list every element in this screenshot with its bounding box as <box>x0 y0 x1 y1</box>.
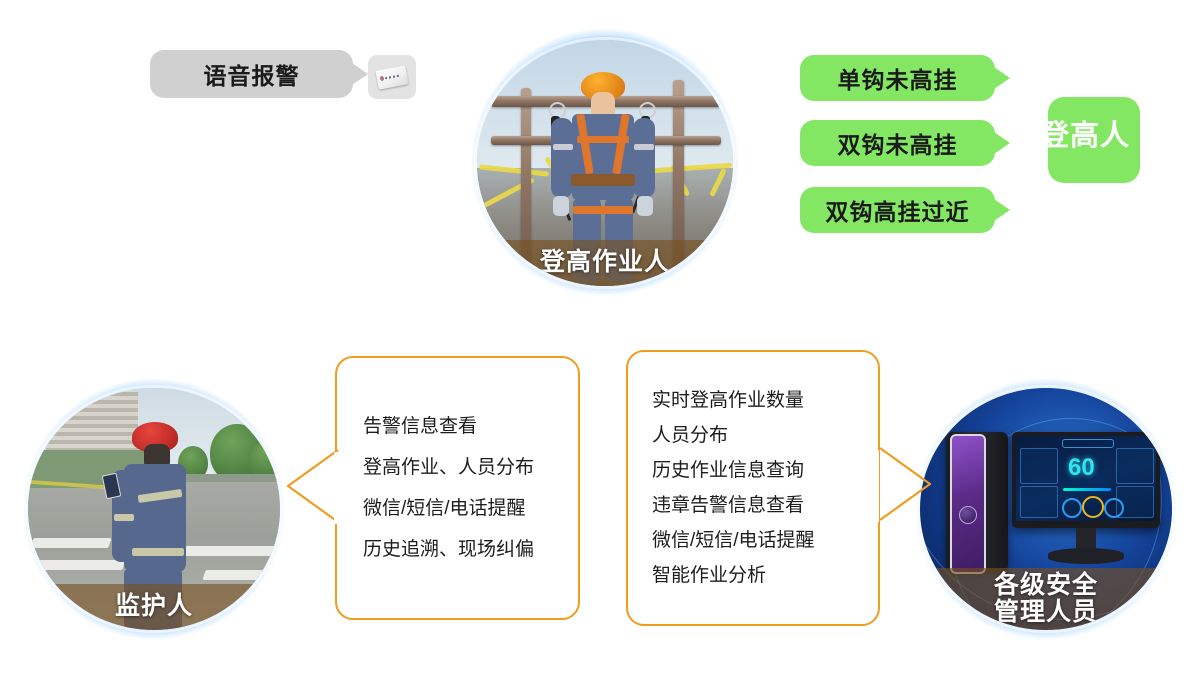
alert-bubble-single-hook: 单钩未高挂 <box>800 55 995 101</box>
callout-line: 人员分布 <box>652 426 880 445</box>
callout-line: 历史作业信息查询 <box>652 461 880 480</box>
node-guard: 监护人 <box>8 378 300 640</box>
alert-bubble-double-hook-too-close: 双钩高挂过近 <box>800 187 995 233</box>
callout-line: 微信/短信/电话提醒 <box>363 499 580 518</box>
safety-belt <box>571 174 635 186</box>
diagram-canvas: 语音报警 单钩未高挂 双钩未高挂 双钩高挂过近 登高人 <box>0 0 1200 674</box>
bubble-tail <box>994 132 1010 154</box>
caption-text: 监护人 <box>115 593 193 621</box>
node-dashboard: 60 各级安全 管理人员 <box>900 378 1192 640</box>
alert-label: 双钩高挂过近 <box>826 193 970 227</box>
callout-guard-pointer-icon <box>282 448 342 528</box>
voice-alarm-label: 语音报警 <box>204 57 300 91</box>
callout-line: 实时登高作业数量 <box>652 391 880 410</box>
screen-header-bar <box>1062 439 1114 448</box>
bubble-tail <box>352 63 368 85</box>
alert-bubble-double-hook: 双钩未高挂 <box>800 120 995 166</box>
callout-line: 微信/短信/电话提醒 <box>652 531 880 550</box>
screen-dial <box>1104 498 1124 518</box>
monitor-screen: 60 <box>1016 436 1156 521</box>
climber-photo-disc: 登高作业人 <box>477 40 733 286</box>
crosswalk-stripe <box>182 546 280 556</box>
crosswalk-stripe <box>28 560 126 570</box>
screen-gauge-bar <box>1063 488 1111 491</box>
arm-right <box>633 118 655 198</box>
node-caption: 各级安全 管理人员 <box>920 568 1172 630</box>
callout-text: 告警信息查看 登高作业、人员分布 微信/短信/电话提醒 历史追溯、现场纠偏 <box>335 356 580 620</box>
callout-line: 智能作业分析 <box>652 566 880 585</box>
arm-left <box>551 118 573 198</box>
node-caption: 登高作业人 <box>477 240 733 286</box>
pointer-mask <box>334 452 339 524</box>
screen-big-value: 60 <box>1068 454 1095 482</box>
callout-guard: 告警信息查看 登高作业、人员分布 微信/短信/电话提醒 历史追溯、现场纠偏 <box>335 356 580 620</box>
callout-line: 告警信息查看 <box>363 417 580 436</box>
crosswalk-stripe <box>202 570 280 580</box>
callout-dashboard: 实时登高作业数量 人员分布 历史作业信息查询 违章告警信息查看 微信/短信/电话… <box>626 350 880 626</box>
reflective-stripe <box>132 548 184 556</box>
pc-front-panel <box>950 434 986 574</box>
callout-line: 历史追溯、现场纠偏 <box>363 540 580 559</box>
caption-line-1: 各级安全 <box>994 572 1098 600</box>
screen-panel <box>1020 486 1058 518</box>
callout-text: 实时登高作业数量 人员分布 历史作业信息查询 违章告警信息查看 微信/短信/电话… <box>626 350 880 626</box>
node-climber: 登高作业人 <box>455 28 755 296</box>
harness-leg-strap <box>573 206 633 214</box>
glove-right <box>637 196 653 216</box>
pointer-mask <box>874 450 879 522</box>
callout-line: 违章告警信息查看 <box>652 496 880 515</box>
monitor-stand-base <box>1048 548 1124 564</box>
bubble-tail <box>994 199 1010 221</box>
screen-panel <box>1020 448 1058 484</box>
reflective-stripe <box>634 144 654 150</box>
bubble-tail <box>994 67 1010 89</box>
screen-dial <box>1082 496 1104 518</box>
role-chip-label: 登高人 <box>1040 112 1180 154</box>
reflective-stripe <box>553 144 573 150</box>
reflective-stripe <box>114 514 134 521</box>
dashboard-photo-disc: 60 各级安全 管理人员 <box>920 388 1172 630</box>
callout-line: 登高作业、人员分布 <box>363 458 580 477</box>
voice-alarm-bubble: 语音报警 <box>150 50 353 98</box>
harness-chest-strap <box>577 136 629 143</box>
node-caption: 监护人 <box>28 584 280 630</box>
smart-tag-device-icon <box>368 55 416 99</box>
pc-logo-icon <box>959 506 977 524</box>
alert-label: 单钩未高挂 <box>838 61 958 95</box>
caption-line-2: 管理人员 <box>994 599 1098 627</box>
screen-dial <box>1062 498 1082 518</box>
tag-card-shape <box>375 65 408 89</box>
alert-label: 双钩未高挂 <box>838 126 958 160</box>
guard-photo-disc: 监护人 <box>28 388 280 630</box>
caption-text: 登高作业人 <box>540 249 670 277</box>
callout-dashboard-pointer-icon <box>876 446 936 526</box>
monitor-bezel: 60 <box>1012 432 1160 528</box>
crosswalk-stripe <box>30 538 111 548</box>
glove-left <box>553 196 569 216</box>
screen-panel <box>1116 448 1154 484</box>
